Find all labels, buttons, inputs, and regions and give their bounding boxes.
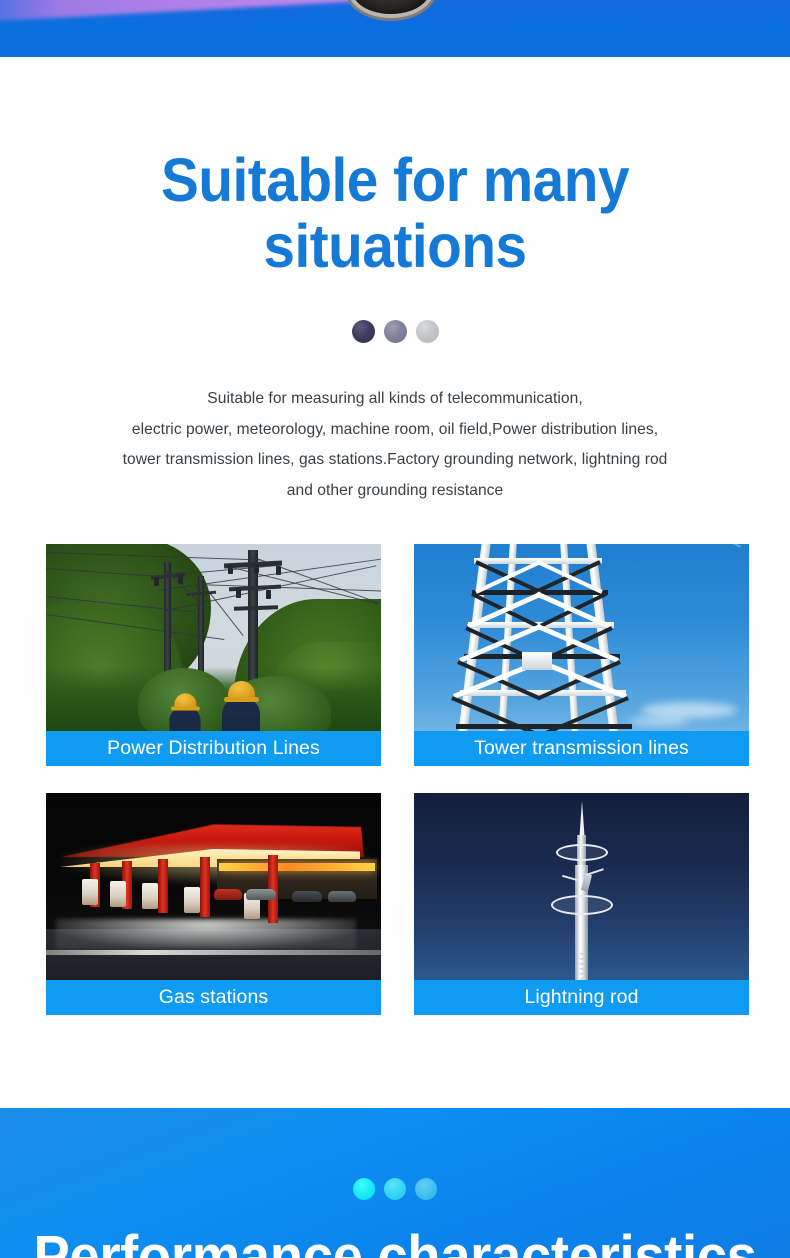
card-caption: Gas stations [46,980,381,1015]
section-divider-dots-cyan [0,1178,790,1200]
page-title: Suitable for many situations [28,147,763,279]
suitable-situations-section: Suitable for many situations Suitable fo… [0,57,790,1108]
divider-dot-3 [416,320,439,343]
use-case-card-tower-transmission-lines[interactable]: Tower transmission lines [414,544,749,766]
top-section-bleed [0,0,790,57]
use-case-card-gas-stations[interactable]: Gas stations [46,793,381,1015]
use-case-row-2: Gas stations Lightning [46,793,749,1015]
card-caption: Tower transmission lines [414,731,749,766]
section-description: Suitable for measuring all kinds of tele… [40,384,750,506]
card-caption: Power Distribution Lines [46,731,381,766]
meter-dial-icon [352,0,430,14]
product-landing-page: Suitable for many situations Suitable fo… [0,0,790,1258]
card-caption: Lightning rod [414,980,749,1015]
performance-characteristics-section: Performance characteristics [0,1108,790,1258]
use-case-row-1: Power Distribution Lines [46,544,749,766]
use-case-grid: Power Distribution Lines [46,544,749,1015]
use-case-card-lightning-rod[interactable]: Lightning rod [414,793,749,1015]
divider-dot-2 [384,320,407,343]
divider-dot-1 [352,320,375,343]
section-divider-dots [0,320,790,343]
divider-dot-cyan-1 [353,1178,375,1200]
divider-dot-cyan-3 [415,1178,437,1200]
use-case-card-power-distribution-lines[interactable]: Power Distribution Lines [46,544,381,766]
bottom-section-title: Performance characteristics [24,1226,767,1258]
divider-dot-cyan-2 [384,1178,406,1200]
